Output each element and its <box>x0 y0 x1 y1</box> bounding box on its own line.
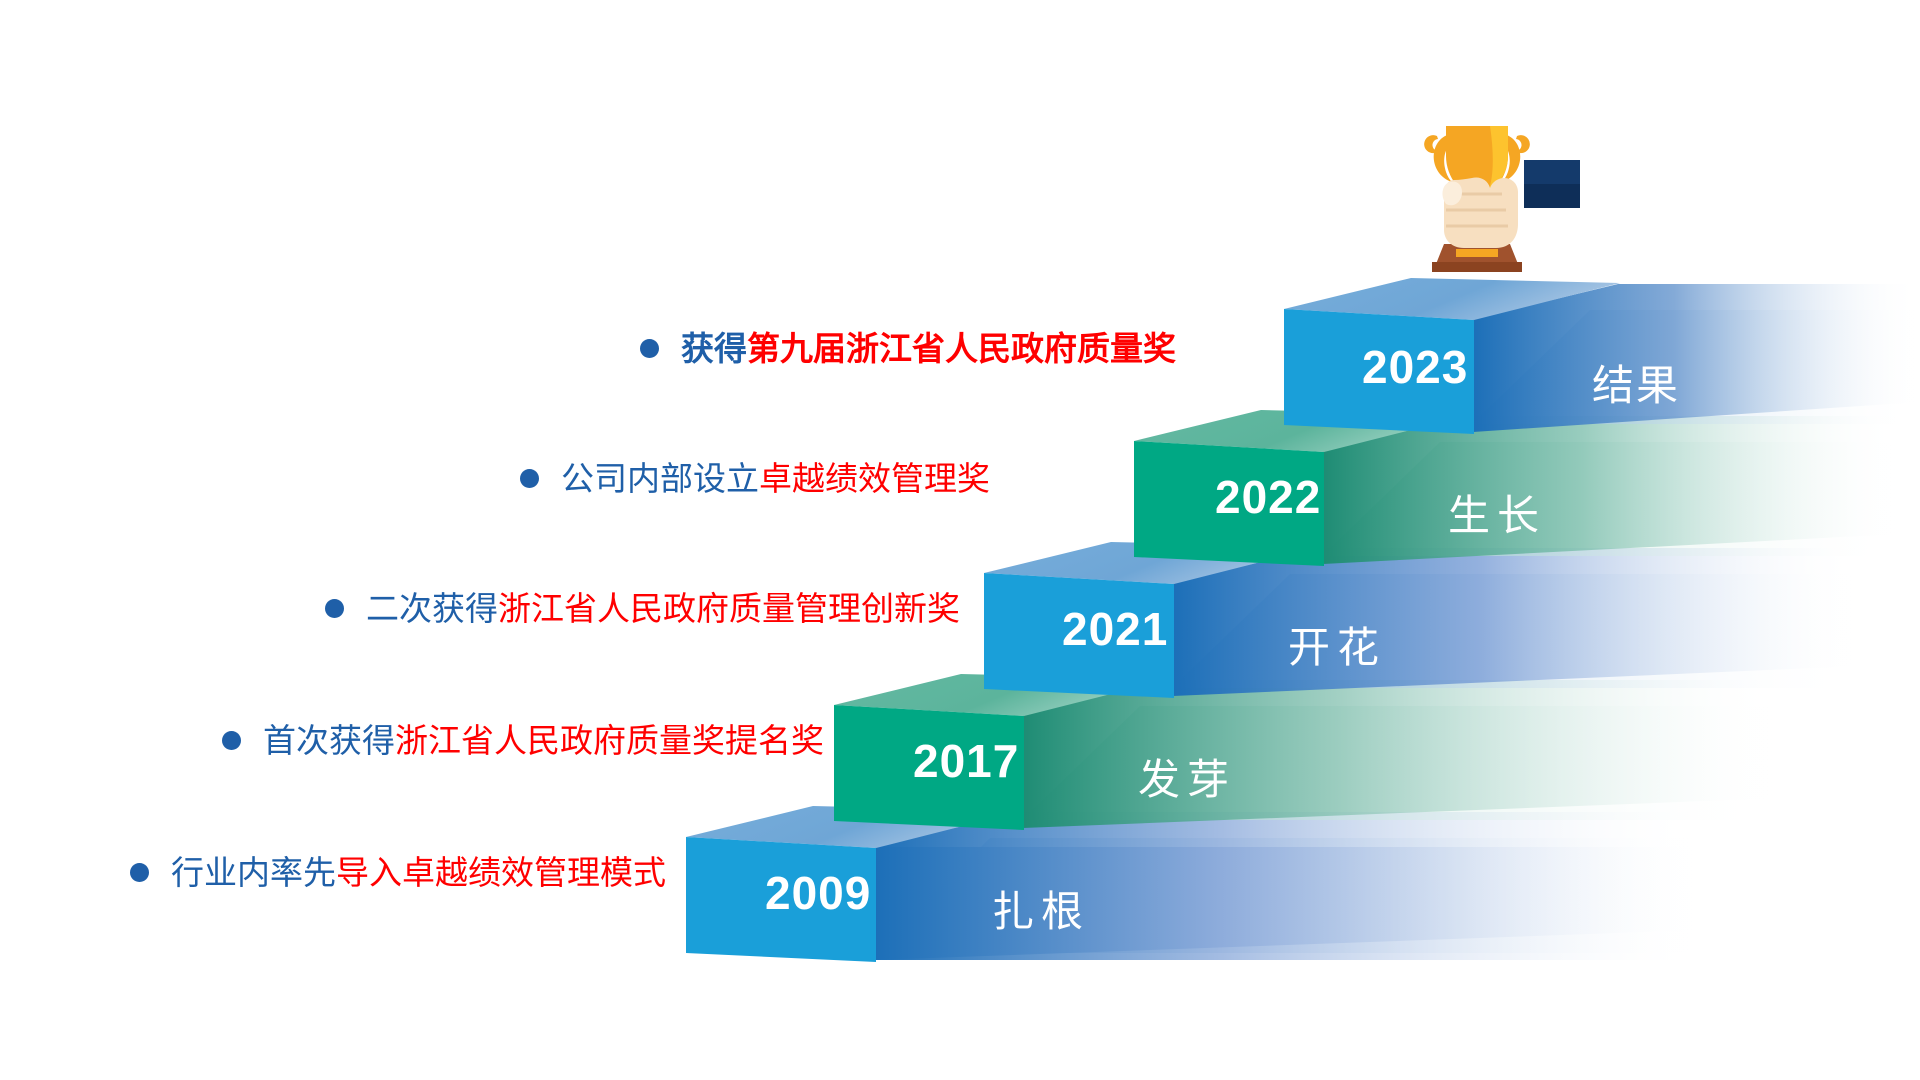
step-phase-2009: 扎根 <box>992 878 1090 939</box>
annotation-2021-lead: 二次获得 <box>366 590 498 627</box>
annotation-2021-highlight: 浙江省人民政府质量管理创新奖 <box>498 590 960 627</box>
step-phase-2021: 开花 <box>1288 614 1386 675</box>
annotation-2023: 获得第九届浙江省人民政府质量奖 <box>640 332 1176 365</box>
staircase-diagram <box>0 0 1920 1080</box>
step-phase-2017: 发芽 <box>1138 746 1236 807</box>
annotation-2017-lead: 首次获得 <box>263 722 395 759</box>
annotation-2009-lead: 行业内率先 <box>171 854 336 891</box>
bullet-dot-icon <box>130 863 149 882</box>
bullet-dot-icon <box>520 469 539 488</box>
annotation-2017: 首次获得浙江省人民政府质量奖提名奖 <box>222 724 824 757</box>
trophy-base-inlay <box>1456 249 1498 257</box>
step-year-2009: 2009 <box>765 866 871 920</box>
step-year-2022: 2022 <box>1215 470 1321 524</box>
step-phase-2022: 生长 <box>1448 482 1546 543</box>
annotation-2009-highlight: 导入卓越绩效管理模式 <box>336 854 666 891</box>
step-phase-2023: 结果 <box>1592 352 1680 413</box>
bullet-dot-icon <box>640 339 659 358</box>
annotation-2009: 行业内率先导入卓越绩效管理模式 <box>130 856 666 889</box>
step-year-2017: 2017 <box>913 734 1019 788</box>
trophy-in-hand-icon <box>1418 112 1608 282</box>
annotation-2023-lead: 获得 <box>681 330 747 367</box>
trophy-base-plate <box>1432 262 1522 272</box>
annotation-2017-highlight: 浙江省人民政府质量奖提名奖 <box>395 722 824 759</box>
step-year-2023: 2023 <box>1362 340 1468 394</box>
annotation-2022-lead: 公司内部设立 <box>561 460 759 497</box>
annotation-2021: 二次获得浙江省人民政府质量管理创新奖 <box>325 592 960 625</box>
annotation-2023-highlight: 第九届浙江省人民政府质量奖 <box>747 330 1176 367</box>
sleeve-block-shadow <box>1524 184 1580 208</box>
step-year-2021: 2021 <box>1062 602 1168 656</box>
slide-canvas: 2023 结果 2022 生长 2021 开花 2017 发芽 2009 扎根 … <box>0 0 1920 1080</box>
annotation-2022: 公司内部设立卓越绩效管理奖 <box>520 462 990 495</box>
annotation-2022-highlight: 卓越绩效管理奖 <box>759 460 990 497</box>
bullet-dot-icon <box>222 731 241 750</box>
bullet-dot-icon <box>325 599 344 618</box>
